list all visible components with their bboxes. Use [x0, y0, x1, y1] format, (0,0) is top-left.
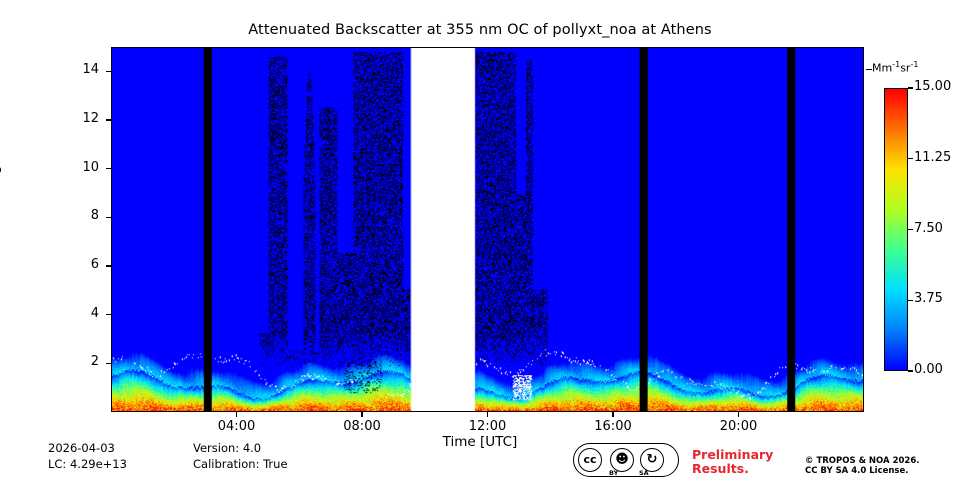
y-tick-mark: [106, 168, 112, 169]
y-tick-mark: [106, 119, 112, 120]
x-tick-mark: [612, 411, 613, 417]
footer-version: Version: 4.0: [193, 441, 261, 455]
y-tick-label: 14: [59, 62, 99, 77]
x-tick-label: 20:00: [704, 419, 774, 434]
colorbar-tick-mark: [908, 158, 913, 159]
x-tick-mark: [236, 411, 237, 417]
x-tick-label: 08:00: [327, 419, 397, 434]
x-axis-label: Time [UTC]: [0, 434, 960, 450]
y-tick-label: 8: [59, 208, 99, 223]
footer-copyright-line2: CC BY SA 4.0 License.: [805, 466, 908, 476]
y-tick-mark: [106, 363, 112, 364]
figure: Attenuated Backscatter at 355 nm OC of p…: [0, 0, 960, 480]
colorbar-tick-mark: [908, 300, 913, 301]
colorbar: [884, 88, 908, 371]
colorbar-tick-label: 7.50: [914, 221, 943, 236]
colorbar-unit-label: Mm-1sr-1: [872, 60, 918, 75]
x-tick-mark: [487, 411, 488, 417]
y-tick-mark: [106, 314, 112, 315]
footer-copyright-line1: © TROPOS & NOA 2026.: [805, 456, 919, 466]
colorbar-tick-mark: [908, 370, 913, 371]
x-tick-label: 12:00: [453, 419, 523, 434]
footer-preliminary-line1: Preliminary: [692, 447, 773, 462]
colorbar-tick-mark: [908, 229, 913, 230]
cc-icon: cc: [578, 448, 602, 472]
x-tick-label: 16:00: [578, 419, 648, 434]
heatmap-canvas: [112, 48, 863, 411]
y-axis-label: Height [km]: [0, 116, 2, 196]
y-tick-label: 2: [59, 354, 99, 369]
colorbar-tick-mark: [908, 87, 913, 88]
footer-date: 2026-04-03: [48, 441, 115, 455]
y-tick-label: 6: [59, 257, 99, 272]
y-tick-mark: [106, 265, 112, 266]
footer-lidar-constant: LC: 4.29e+13: [48, 457, 127, 471]
colorbar-tick-label: 11.25: [914, 150, 951, 165]
cc-sa-label: SA: [639, 469, 649, 477]
chart-title: Attenuated Backscatter at 355 nm OC of p…: [0, 22, 960, 38]
y-tick-label: 10: [59, 160, 99, 175]
footer-calibration: Calibration: True: [193, 457, 288, 471]
colorbar-tick-label: 0.00: [914, 362, 943, 377]
y-tick-mark: [106, 217, 112, 218]
x-tick-mark: [361, 411, 362, 417]
footer-preliminary-line2: Results.: [692, 461, 749, 476]
creative-commons-badge: cc ☻ ↻ BY SA: [573, 443, 679, 477]
y-tick-label: 12: [59, 111, 99, 126]
cc-by-label: BY: [609, 469, 618, 477]
y-tick-label: 4: [59, 306, 99, 321]
colorbar-tick-label: 15.00: [914, 79, 951, 94]
y-tick-mark: [106, 71, 112, 72]
x-tick-mark: [738, 411, 739, 417]
heatmap-plot-area: [111, 47, 864, 412]
x-tick-label: 04:00: [202, 419, 272, 434]
colorbar-gradient: [885, 89, 907, 370]
colorbar-tick-label: 3.75: [914, 291, 943, 306]
